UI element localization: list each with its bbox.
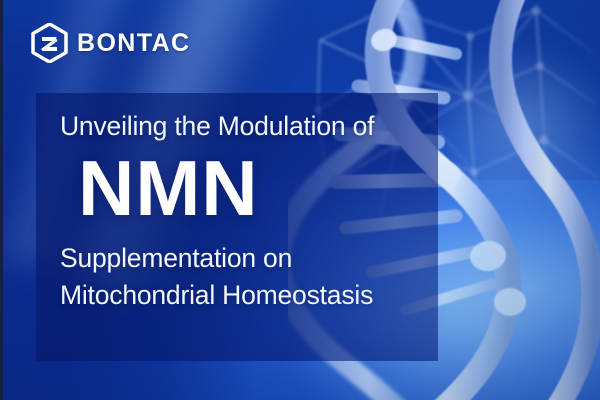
headline-block: Unveiling the Modulation of NMN Suppleme… xyxy=(60,112,430,313)
brand-logo[interactable]: BONTAC xyxy=(31,23,190,63)
headline-hero-word: NMN xyxy=(78,149,430,229)
headline-line-3: Mitochondrial Homeostasis xyxy=(60,278,430,313)
headline-line-1: Unveiling the Modulation of xyxy=(60,112,430,141)
brand-name: BONTAC xyxy=(77,31,190,56)
promotional-banner: BONTAC Unveiling the Modulation of NMN S… xyxy=(0,0,600,400)
hexagon-z-logo-icon xyxy=(31,23,68,63)
headline-line-2: Supplementation on xyxy=(60,241,430,276)
